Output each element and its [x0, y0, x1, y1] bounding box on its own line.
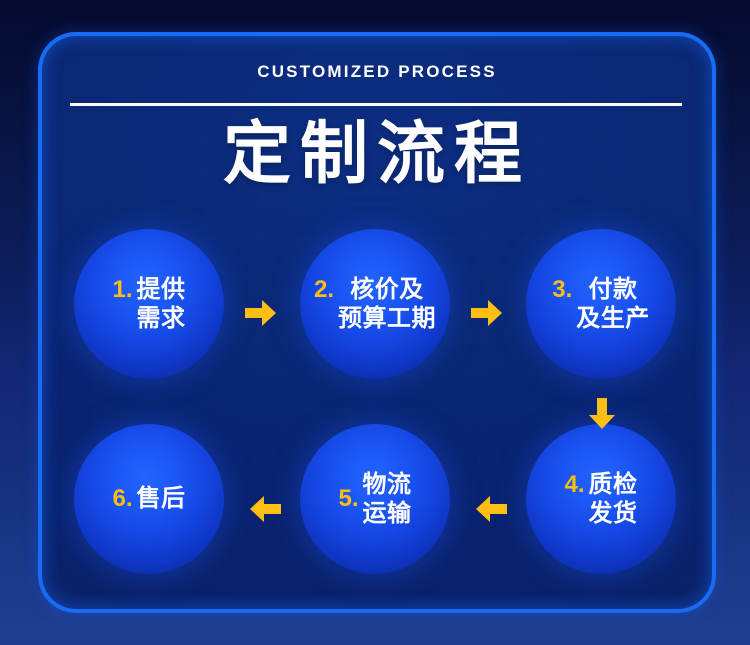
page-title: 定制流程	[38, 120, 716, 188]
arrow-left-icon	[475, 494, 507, 524]
step-circle-4[interactable]: 4. 质检 发货	[526, 424, 676, 574]
header-divider	[70, 103, 682, 106]
step-circle-1[interactable]: 1. 提供 需求	[74, 229, 224, 379]
step-circle-3[interactable]: 3. 付款 及生产	[526, 229, 676, 379]
step-number-4: 4.	[564, 470, 584, 500]
step-label-2: 核价及 预算工期	[338, 275, 436, 334]
step-number-6: 6.	[112, 484, 132, 514]
page-subtitle: CUSTOMIZED PROCESS	[38, 62, 716, 82]
process-card: CUSTOMIZED PROCESS 定制流程 1. 提供 需求 2. 核价及 …	[38, 32, 716, 613]
step-circle-6[interactable]: 6. 售后	[74, 424, 224, 574]
arrow-left-icon	[249, 494, 281, 524]
step-number-1: 1.	[112, 275, 132, 305]
arrow-down-icon	[587, 398, 617, 430]
step-number-3: 3.	[552, 275, 572, 305]
step-label-1: 提供 需求	[137, 275, 186, 334]
step-label-3: 付款 及生产	[576, 275, 650, 334]
step-label-4: 质检 发货	[589, 470, 638, 529]
step-number-5: 5.	[338, 484, 358, 514]
arrow-right-icon	[245, 298, 277, 328]
step-number-2: 2.	[314, 275, 334, 305]
step-label-5: 物流 运输	[363, 470, 412, 529]
step-circle-2[interactable]: 2. 核价及 预算工期	[300, 229, 450, 379]
step-label-6: 售后	[137, 484, 186, 513]
arrow-right-icon	[471, 298, 503, 328]
step-circle-5[interactable]: 5. 物流 运输	[300, 424, 450, 574]
